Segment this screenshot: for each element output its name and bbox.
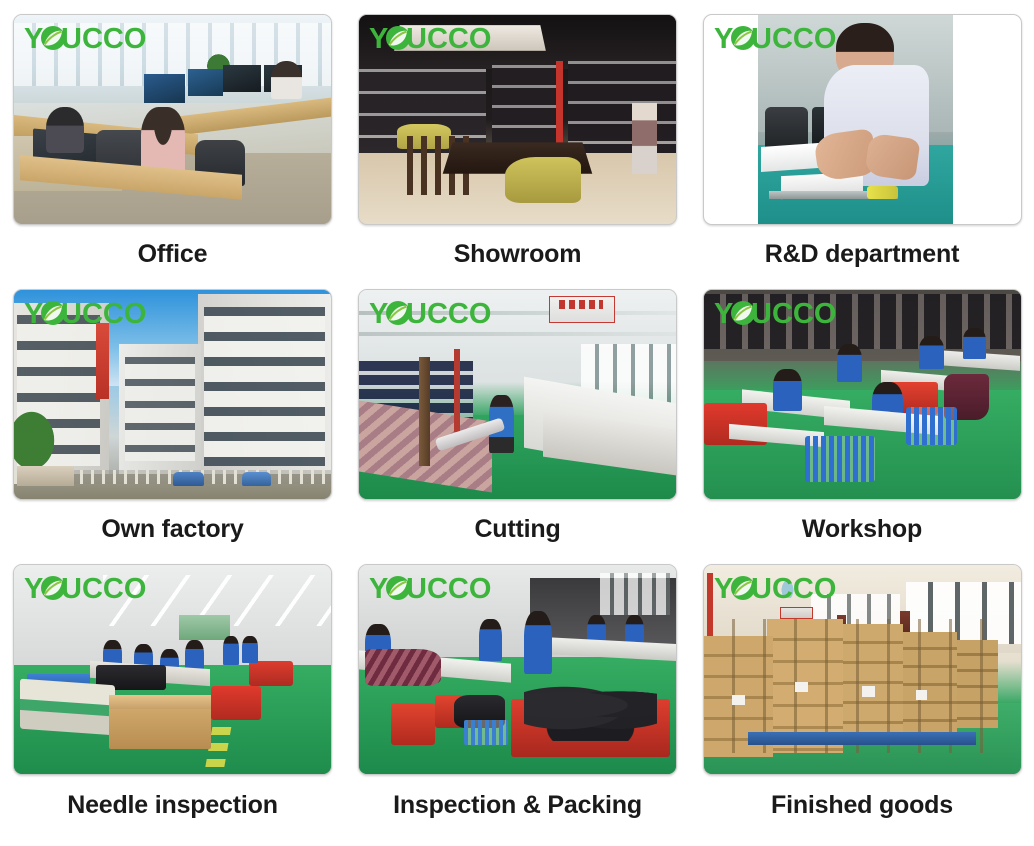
tile-caption-cutting: Cutting xyxy=(474,517,560,542)
gallery-cell-needle-inspection[interactable]: YUCCO Needle inspection xyxy=(0,550,345,846)
photo-tile-showroom[interactable]: YUCCO xyxy=(358,14,677,225)
photo-tile-office[interactable]: YUCCO xyxy=(13,14,332,225)
gallery-cell-office[interactable]: YUCCO Office xyxy=(0,0,345,275)
photo-inspection-packing xyxy=(359,565,676,774)
photo-tile-rnd-department[interactable]: YUCCO xyxy=(703,14,1022,225)
gallery-cell-workshop[interactable]: YUCCO Workshop xyxy=(690,275,1034,550)
tile-caption-workshop: Workshop xyxy=(802,517,922,542)
tile-caption-own-factory: Own factory xyxy=(101,517,243,542)
photo-tile-own-factory[interactable]: YUCCO xyxy=(13,289,332,500)
photo-tile-finished-goods[interactable]: YUCCO xyxy=(703,564,1022,775)
photo-tile-cutting[interactable]: YUCCO xyxy=(358,289,677,500)
photo-tile-needle-inspection[interactable]: YUCCO xyxy=(13,564,332,775)
tile-caption-finished-goods: Finished goods xyxy=(771,793,953,818)
factory-showcase-gallery: YUCCO Office xyxy=(0,0,1034,846)
gallery-cell-cutting[interactable]: YUCCO Cutting xyxy=(345,275,690,550)
photo-showroom xyxy=(359,15,676,224)
tile-caption-showroom: Showroom xyxy=(454,242,582,267)
svg-text:Y: Y xyxy=(714,23,733,55)
gallery-cell-rnd-department[interactable]: YUCCO R&D department xyxy=(690,0,1034,275)
photo-rnd-department xyxy=(758,15,953,224)
tile-caption-rnd-department: R&D department xyxy=(765,242,959,267)
gallery-cell-finished-goods[interactable]: YUCCO Finished goods xyxy=(690,550,1034,846)
gallery-cell-showroom[interactable]: YUCCO Showroom xyxy=(345,0,690,275)
gallery-cell-own-factory[interactable]: YUCCO Own factory xyxy=(0,275,345,550)
photo-tile-workshop[interactable]: YUCCO xyxy=(703,289,1022,500)
photo-finished-goods xyxy=(704,565,1021,774)
tile-caption-office: Office xyxy=(138,242,208,267)
photo-cutting xyxy=(359,290,676,499)
photo-office xyxy=(14,15,331,224)
photo-workshop xyxy=(704,290,1021,499)
gallery-cell-inspection-packing[interactable]: YUCCO Inspection & Packing xyxy=(345,550,690,846)
photo-tile-inspection-packing[interactable]: YUCCO xyxy=(358,564,677,775)
tile-caption-needle-inspection: Needle inspection xyxy=(67,793,278,818)
tile-caption-inspection-packing: Inspection & Packing xyxy=(393,793,642,818)
photo-own-factory xyxy=(14,290,331,499)
photo-needle-inspection xyxy=(14,565,331,774)
